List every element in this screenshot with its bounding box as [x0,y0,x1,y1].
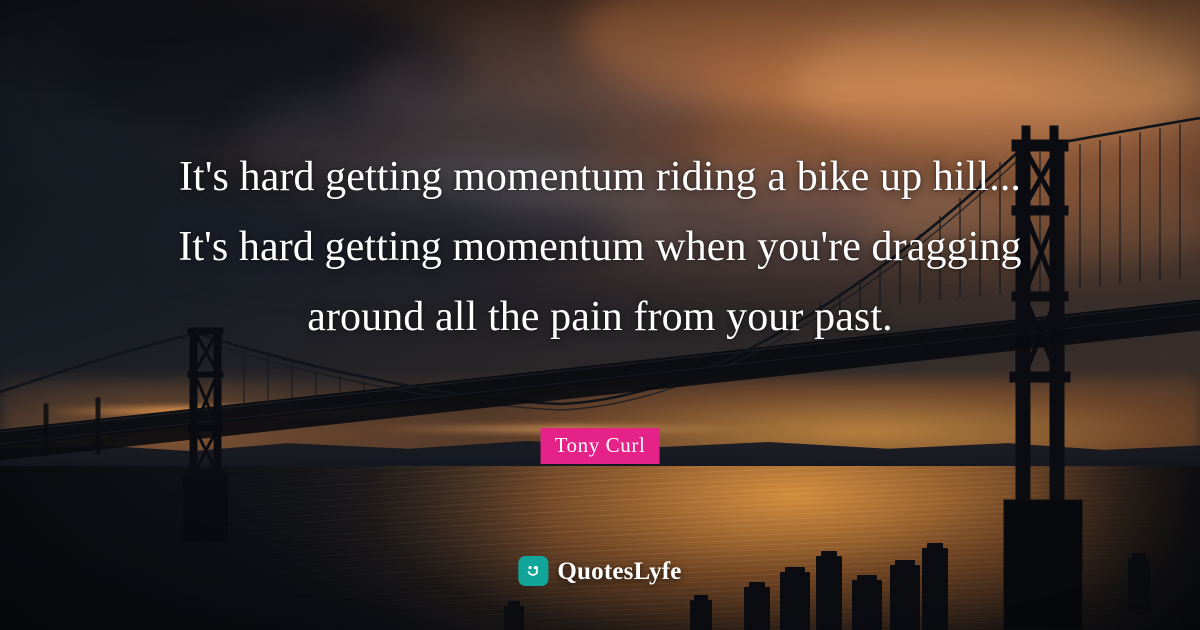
brand-name: QuotesLyfe [557,559,681,584]
author-attribution: Tony Curl [541,428,660,464]
quote-card: It's hard getting momentum riding a bike… [0,0,1200,630]
brand-logo[interactable]: QuotesLyfe [518,556,681,586]
card-content: It's hard getting momentum riding a bike… [0,0,1200,630]
quote-smiley-icon [518,556,548,586]
author-name-badge[interactable]: Tony Curl [541,428,660,464]
quote-text: It's hard getting momentum riding a bike… [150,142,1050,352]
